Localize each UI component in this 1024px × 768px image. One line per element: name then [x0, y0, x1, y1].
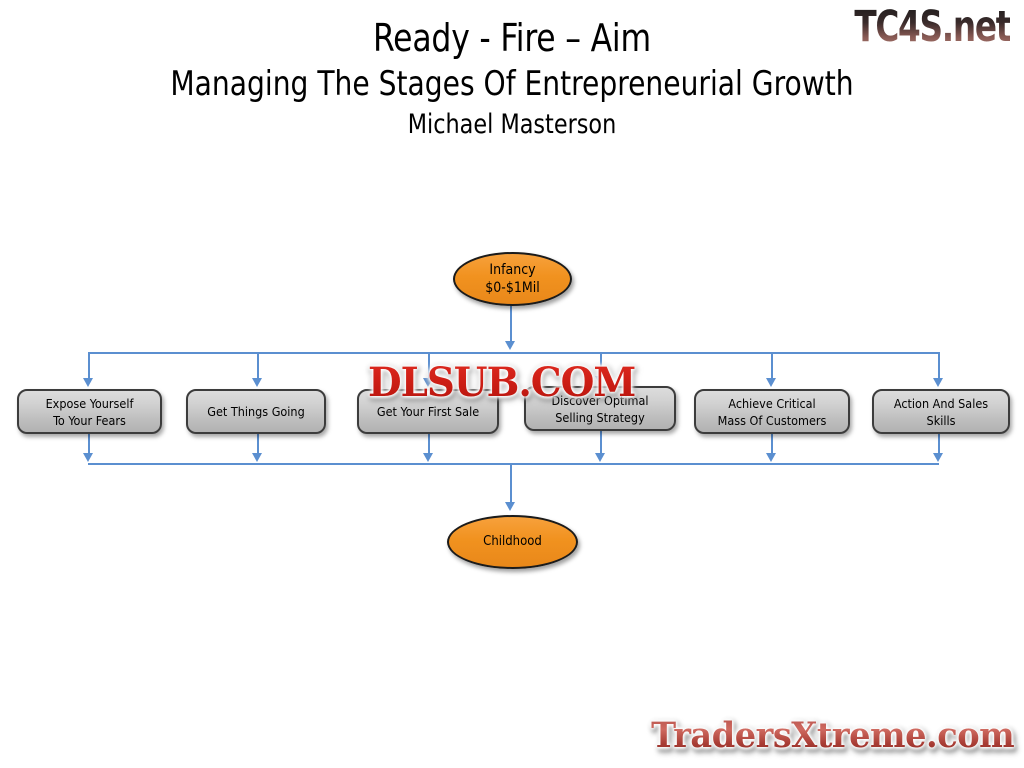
connector-bottom-arrow-5 [766, 453, 776, 462]
stage-box-5-line2: Mass Of Customers [718, 412, 827, 429]
connector-bottom-riser-3 [428, 434, 430, 454]
connector-bottom-riser-5 [771, 434, 773, 454]
connector-top-arrow-6 [933, 378, 943, 387]
stage-box-1-line1: Expose Yourself [46, 395, 134, 412]
connector-bottom-arrow-2 [252, 453, 262, 462]
page-title: Ready - Fire – Aim [41, 14, 983, 62]
connector-top-arrow-5 [766, 378, 776, 387]
connector-top-drop-2 [257, 352, 259, 380]
connector-bottom-arrow-3 [423, 453, 433, 462]
stage-box-6-line2: Skills [894, 412, 988, 429]
node-childhood-label-1: Childhood [483, 533, 542, 551]
connector-top-bus [88, 352, 939, 354]
page-author: Michael Masterson [41, 106, 983, 144]
connector-top-arrow-1 [83, 378, 93, 387]
connector-bottom-riser-2 [257, 434, 259, 454]
stage-box-4-line2: Selling Strategy [552, 409, 649, 426]
connector-top-arrow-2 [252, 378, 262, 387]
stage-box-expose-yourself-to-your-fears: Expose Yourself To Your Fears [17, 389, 162, 434]
connector-bottom-bus [88, 463, 939, 465]
node-infancy-label-1: Infancy [489, 261, 535, 279]
page-subtitle: Managing The Stages Of Entrepreneurial G… [41, 62, 983, 106]
stage-box-6-line1: Action And Sales [894, 395, 988, 412]
node-childhood: Childhood [447, 515, 578, 569]
node-infancy: Infancy $0-$1Mil [453, 252, 572, 306]
connector-bottom-riser-6 [938, 434, 940, 454]
node-infancy-label-2: $0-$1Mil [485, 279, 539, 297]
stage-box-2-line1: Get Things Going [207, 403, 304, 420]
tc4s-logo: TC4S.net [854, 2, 1010, 51]
stage-box-1-line2: To Your Fears [46, 412, 134, 429]
connector-bottom-arrow-6 [933, 453, 943, 462]
connector-top-drop-5 [771, 352, 773, 380]
connector-bottom-riser-4 [600, 431, 602, 454]
tradersxtreme-logo: TradersXtreme.com [651, 715, 1014, 756]
connector-bottom-arrow-1 [83, 453, 93, 462]
connector-infancy-arrow [505, 341, 515, 350]
connector-top-drop-6 [938, 352, 940, 380]
stage-box-action-and-sales-skills: Action And Sales Skills [872, 389, 1010, 434]
connector-infancy-stem [510, 302, 512, 345]
stage-box-get-things-going: Get Things Going [186, 389, 326, 434]
stage-box-5-line1: Achieve Critical [718, 395, 827, 412]
stage-box-achieve-critical-mass-of-customers: Achieve Critical Mass Of Customers [694, 389, 850, 434]
dlsub-watermark: DLSUB.COM [368, 358, 635, 406]
connector-childhood-arrow [505, 502, 515, 511]
connector-top-drop-1 [88, 352, 90, 380]
connector-childhood-stem [510, 463, 512, 505]
connector-bottom-riser-1 [88, 434, 90, 454]
connector-bottom-arrow-4 [595, 453, 605, 462]
slide-canvas: Ready - Fire – Aim Managing The Stages O… [0, 0, 1024, 768]
